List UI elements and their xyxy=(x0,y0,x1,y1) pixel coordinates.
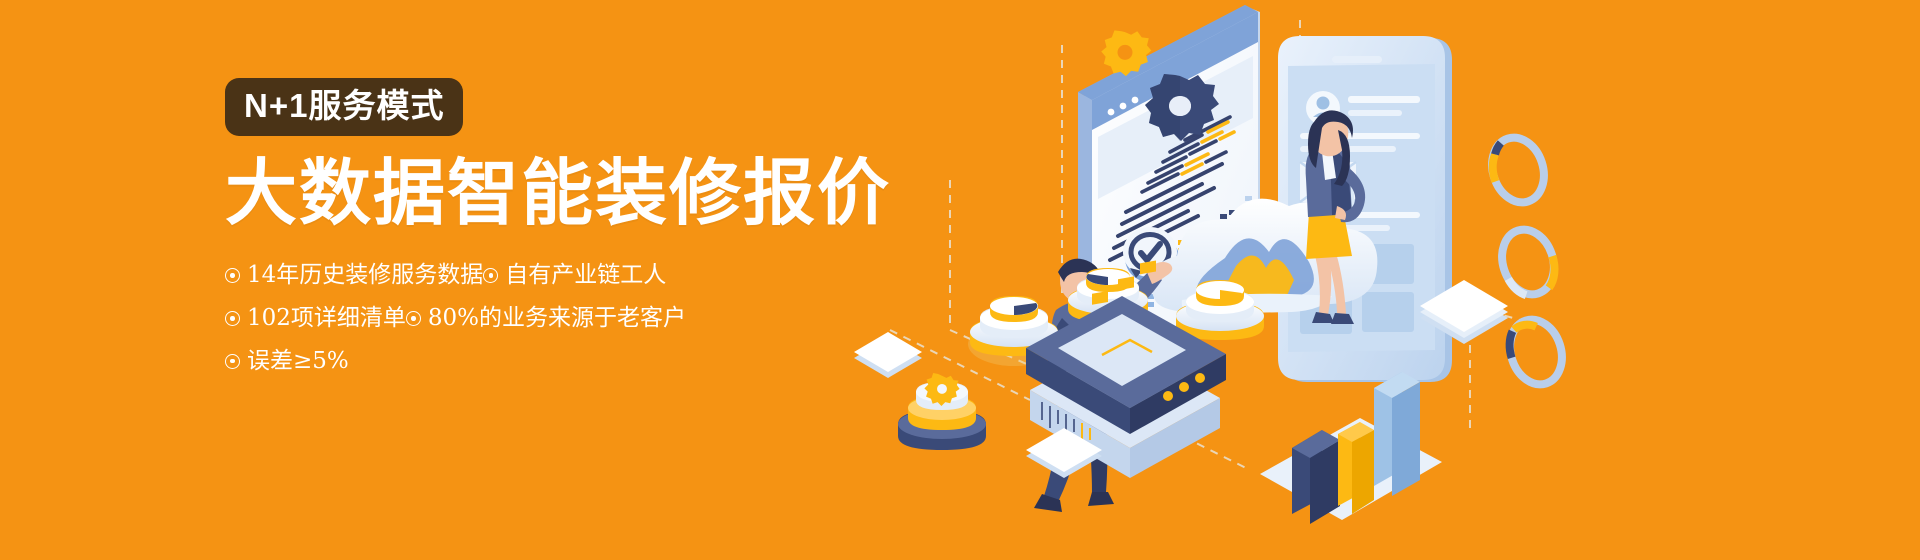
list-item: 102项详细清单 80%的业务来源于老客户 xyxy=(225,304,865,333)
paper-stack xyxy=(854,332,922,378)
isometric-big-data-illustration xyxy=(830,0,1920,560)
circled-dot-icon xyxy=(406,311,421,326)
donut-ring-chart xyxy=(1484,131,1552,209)
disk-stack-with-gear xyxy=(898,373,986,450)
bullet-right-2: 80%的业务来源于老客户 xyxy=(406,304,686,333)
bullet-left-1: 14年历史装修服务数据 xyxy=(225,261,483,290)
bullet-left-2: 102项详细清单 xyxy=(225,304,406,333)
promo-banner: N+1服务模式 大数据智能装修报价 14年历史装修服务数据 自有产业链工人 10… xyxy=(0,0,1920,560)
circled-dot-icon xyxy=(225,268,240,283)
feature-bullet-list: 14年历史装修服务数据 自有产业链工人 102项详细清单 80%的业务来源于老客… xyxy=(225,261,865,375)
donut-ring-chart xyxy=(1494,223,1562,301)
list-item: 误差≥5% xyxy=(225,347,865,376)
donut-ring-chart xyxy=(1502,313,1570,391)
service-model-badge: N+1服务模式 xyxy=(225,78,463,136)
bar-chart-3d xyxy=(1260,372,1442,524)
bullet-text: 误差≥5% xyxy=(247,347,349,376)
bullet-text: 102项详细清单 xyxy=(247,304,406,333)
bullet-text: 14年历史装修服务数据 xyxy=(247,261,483,290)
bullet-text: 自有产业链工人 xyxy=(505,261,666,290)
list-item: 14年历史装修服务数据 自有产业链工人 xyxy=(225,261,865,290)
circled-dot-icon xyxy=(483,268,498,283)
bullet-text: 80%的业务来源于老客户 xyxy=(428,304,686,333)
circled-dot-icon xyxy=(225,311,240,326)
bullet-right-1: 自有产业链工人 xyxy=(483,261,666,290)
bullet-left-3: 误差≥5% xyxy=(225,347,349,376)
circled-dot-icon xyxy=(225,354,240,369)
